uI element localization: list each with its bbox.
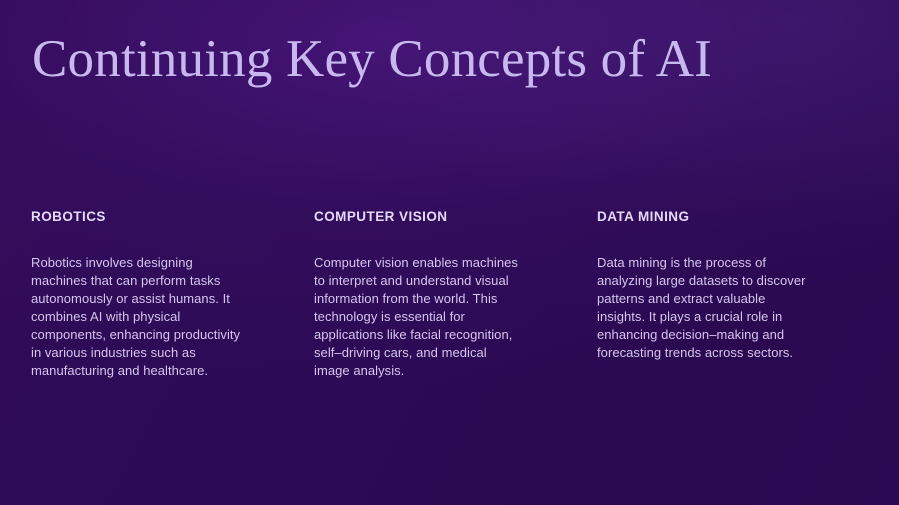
presentation-slide: Continuing Key Concepts of AI ROBOTICS R… xyxy=(0,0,899,505)
column-body-robotics: Robotics involves designing machines tha… xyxy=(31,226,241,380)
column-heading-computer-vision: COMPUTER VISION xyxy=(314,208,524,226)
concept-column-robotics: ROBOTICS Robotics involves designing mac… xyxy=(31,208,241,380)
column-body-data-mining: Data mining is the process of analyzing … xyxy=(597,226,807,362)
slide-content: Continuing Key Concepts of AI ROBOTICS R… xyxy=(0,0,899,505)
concept-column-data-mining: DATA MINING Data mining is the process o… xyxy=(597,208,807,380)
column-heading-robotics: ROBOTICS xyxy=(31,208,241,226)
concept-columns: ROBOTICS Robotics involves designing mac… xyxy=(31,208,867,380)
concept-column-computer-vision: COMPUTER VISION Computer vision enables … xyxy=(314,208,524,380)
column-heading-data-mining: DATA MINING xyxy=(597,208,807,226)
page-title: Continuing Key Concepts of AI xyxy=(32,27,712,91)
column-body-computer-vision: Computer vision enables machines to inte… xyxy=(314,226,524,380)
